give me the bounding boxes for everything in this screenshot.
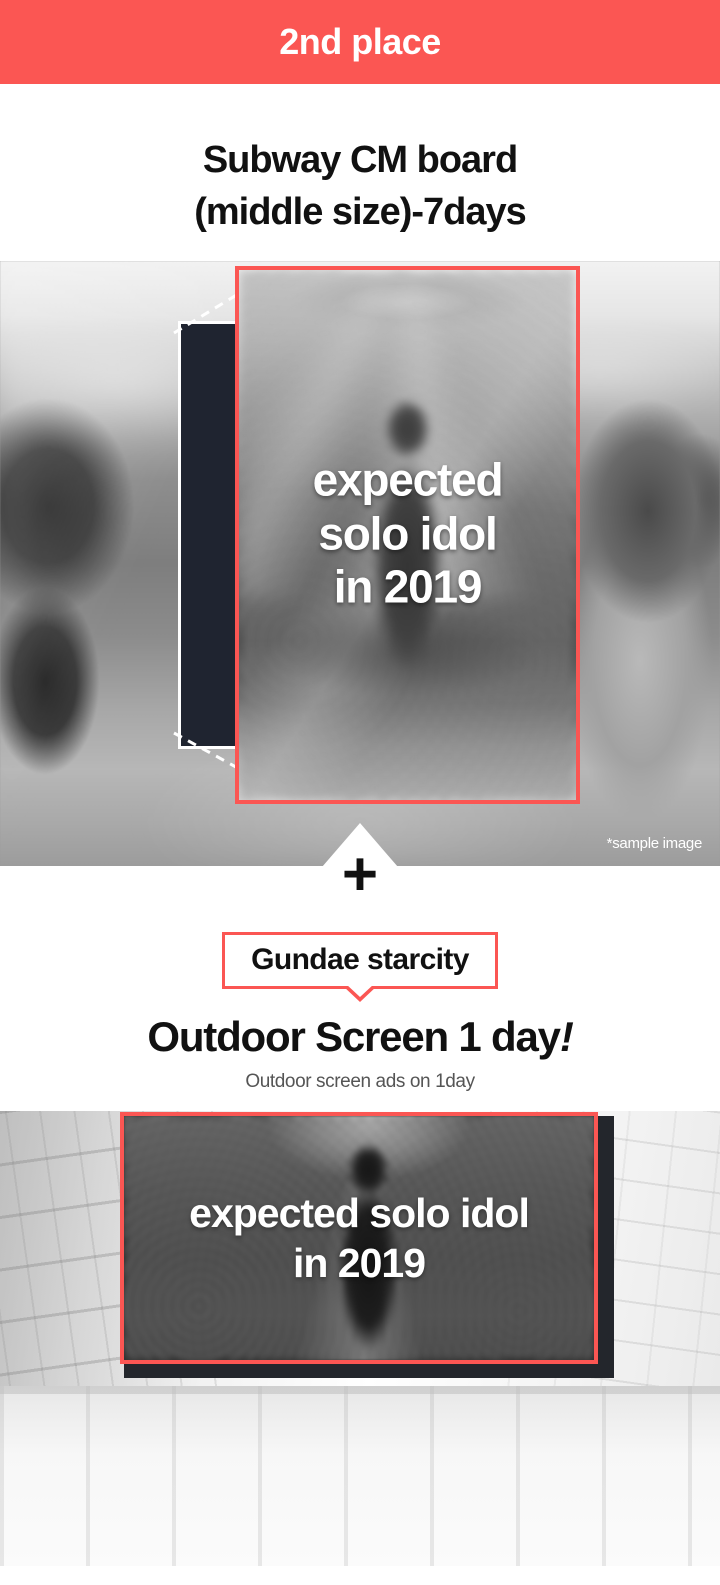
- billboard-caption: expected solo idol in 2019: [124, 1188, 594, 1288]
- sample-image-note: *sample image: [607, 835, 702, 852]
- outdoor-billboard-screen: expected solo idol in 2019: [120, 1112, 598, 1364]
- product-title-line-2: (middle size)-7days: [0, 186, 720, 238]
- location-bubble-label: Gundae starcity: [251, 943, 469, 976]
- subway-ad-caption-line-3: in 2019: [239, 561, 576, 614]
- building-base-structure: [0, 1386, 720, 1566]
- promo-page: 2nd place Subway CM board (middle size)-…: [0, 0, 720, 1585]
- outdoor-billboard-section: expected solo idol in 2019: [0, 1111, 720, 1566]
- subway-photo-section: expected solo idol in 2019 *sample image: [0, 261, 720, 866]
- outdoor-subtitle: Outdoor screen ads on 1day: [0, 1071, 720, 1093]
- product-title-line-1: Subway CM board: [0, 134, 720, 186]
- outdoor-heading: Outdoor Screen 1 day!: [0, 1013, 720, 1061]
- plus-divider: +: [0, 866, 720, 924]
- rank-banner-label: 2nd place: [279, 21, 441, 63]
- subway-ad-caption-line-1: expected: [239, 454, 576, 507]
- outdoor-heading-text: Outdoor Screen 1 day: [147, 1013, 559, 1060]
- subway-ad-caption: expected solo idol in 2019: [239, 454, 576, 614]
- outdoor-intro-block: Gundae starcity Outdoor Screen 1 day! Ou…: [0, 924, 720, 1093]
- plus-icon: +: [342, 844, 378, 906]
- billboard-caption-line-2: in 2019: [124, 1238, 594, 1288]
- outdoor-heading-exclamation: !: [560, 1013, 573, 1060]
- subway-ad-preview-card: expected solo idol in 2019: [235, 266, 580, 804]
- product-title: Subway CM board (middle size)-7days: [0, 84, 720, 239]
- subway-ad-caption-line-2: solo idol: [239, 507, 576, 560]
- rank-banner: 2nd place: [0, 0, 720, 84]
- billboard-caption-line-1: expected solo idol: [124, 1188, 594, 1238]
- location-bubble: Gundae starcity: [222, 932, 498, 989]
